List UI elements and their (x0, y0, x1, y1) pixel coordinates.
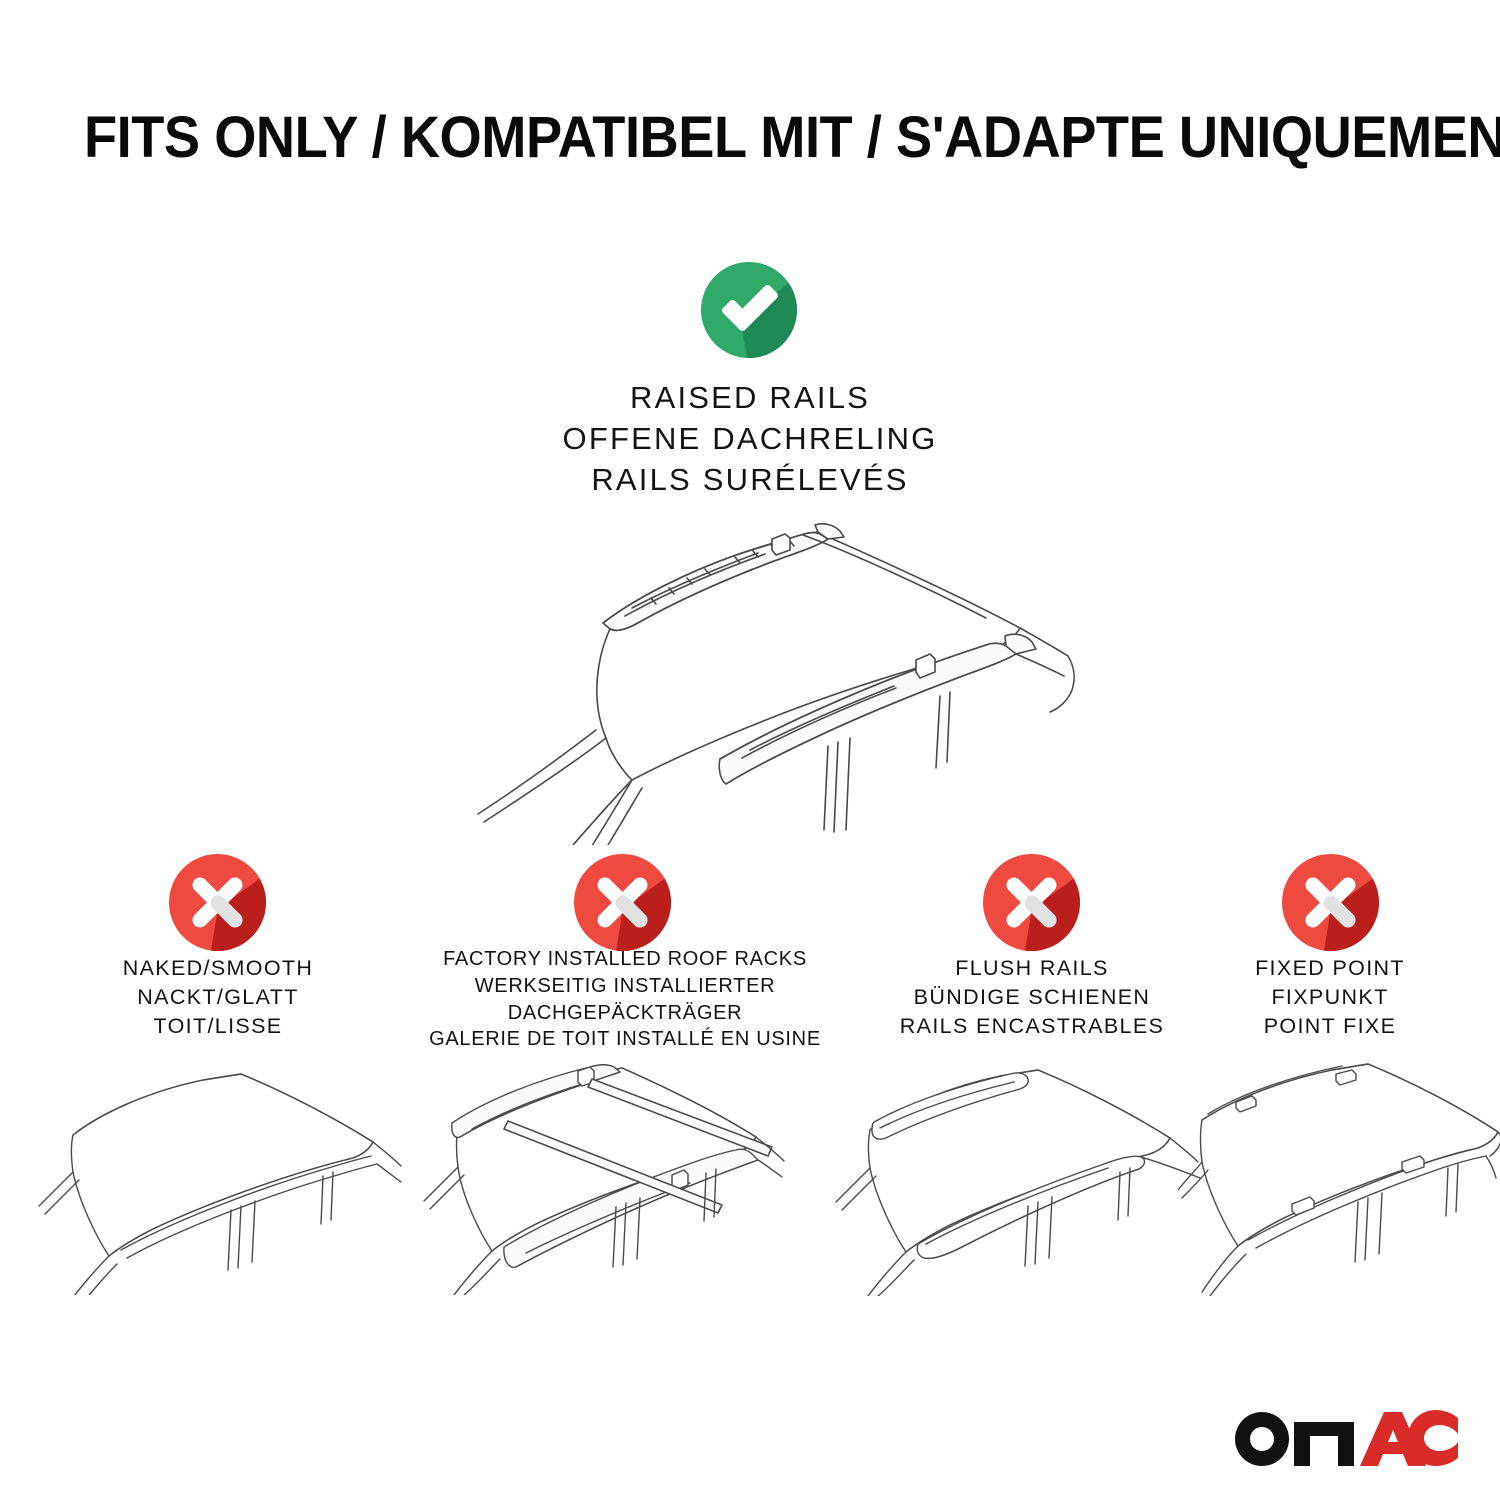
caption-line: FACTORY INSTALLED ROOF RACKS (400, 946, 850, 973)
red-x-circle-icon (983, 854, 1080, 951)
caption-fixed-point: FIXED POINT FIXPUNKT POINT FIXE (1170, 954, 1490, 1040)
compatible-caption: RAISED RAILS OFFENE DACHRELING RAILS SUR… (400, 378, 1100, 501)
caption-line: WERKSEITIG INSTALLIERTER (400, 973, 850, 1000)
caption-line: DACHGEPÄCKTRÄGER (400, 1000, 850, 1027)
fitment-infographic: FITS ONLY / KOMPATIBEL MIT / S'ADAPTE UN… (0, 0, 1500, 1500)
red-x-circle-icon (574, 854, 671, 951)
caption-naked-smooth: NAKED/SMOOTH NACKT/GLATT TOIT/LISSE (20, 954, 416, 1040)
illustration-bare-roof (35, 1060, 405, 1295)
illustration-flush-rails (828, 1058, 1208, 1296)
compatible-line-3: RAILS SURÉLEVÉS (400, 460, 1100, 501)
page-title: FITS ONLY / KOMPATIBEL MIT / S'ADAPTE UN… (84, 108, 1337, 169)
illustration-factory-crossbars (400, 1055, 790, 1295)
caption-line: GALERIE DE TOIT INSTALLÉ EN USINE (400, 1026, 850, 1053)
illustration-raised-rails (420, 500, 1080, 845)
caption-factory-roof-racks: FACTORY INSTALLED ROOF RACKS WERKSEITIG … (400, 946, 850, 1053)
caption-line: NACKT/GLATT (20, 983, 416, 1012)
compatible-line-2: OFFENE DACHRELING (400, 419, 1100, 460)
compatible-line-1: RAISED RAILS (400, 378, 1100, 419)
caption-line: POINT FIXE (1170, 1012, 1490, 1041)
caption-line: FIXPUNKT (1170, 983, 1490, 1012)
caption-line: BÜNDIGE SCHIENEN (848, 983, 1216, 1012)
green-check-circle-icon (701, 262, 797, 358)
omac-logo (1232, 1406, 1458, 1468)
red-x-circle-icon (1282, 854, 1379, 951)
caption-line: FLUSH RAILS (848, 954, 1216, 983)
caption-line: RAILS ENCASTRABLES (848, 1012, 1216, 1041)
caption-line: FIXED POINT (1170, 954, 1490, 983)
caption-line: NAKED/SMOOTH (20, 954, 416, 983)
red-x-circle-icon (169, 854, 266, 951)
caption-line: TOIT/LISSE (20, 1012, 416, 1041)
caption-flush-rails: FLUSH RAILS BÜNDIGE SCHIENEN RAILS ENCAS… (848, 954, 1216, 1040)
illustration-fixed-points (1178, 1058, 1500, 1296)
